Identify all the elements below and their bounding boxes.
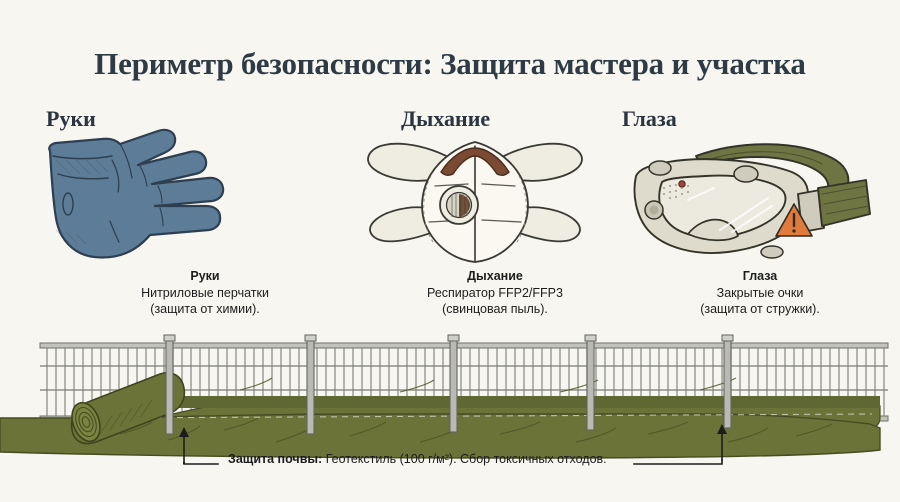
soil-note-text: Геотекстиль (100 г/м²). Сбор токсичных о…	[322, 452, 606, 466]
caption-line1-hands: Нитриловые перчатки	[141, 286, 269, 300]
caption-hands: Руки Нитриловые перчатки (защита от хими…	[55, 268, 355, 318]
caption-line1-breathing: Респиратор FFP2/FFP3	[427, 286, 563, 300]
caption-title-eyes: Глаза	[620, 268, 900, 285]
section-heading-eyes: Глаза	[622, 106, 677, 132]
caption-eyes: Глаза Закрытые очки (защита от стружки).	[620, 268, 900, 318]
safety-goggles-icon	[622, 132, 880, 267]
caption-line2-hands: (защита от химии).	[150, 302, 259, 316]
caption-breathing: Дыхание Респиратор FFP2/FFP3 (свинцовая …	[345, 268, 645, 318]
soil-note-label: Защита почвы:	[228, 452, 322, 466]
infographic-canvas: Периметр безопасности: Защита мастера и …	[0, 0, 900, 502]
soil-callout-leaders	[0, 420, 900, 480]
caption-title-hands: Руки	[55, 268, 355, 285]
caption-line2-breathing: (свинцовая пыль).	[442, 302, 548, 316]
caption-title-breathing: Дыхание	[345, 268, 645, 285]
nitrile-glove-icon	[40, 126, 325, 271]
caption-line2-eyes: (защита от стружки).	[700, 302, 820, 316]
page-title: Периметр безопасности: Защита мастера и …	[0, 46, 900, 82]
soil-protection-note: Защита почвы: Геотекстиль (100 г/м²). Сб…	[228, 452, 607, 466]
caption-line1-eyes: Закрытые очки	[717, 286, 804, 300]
respirator-mask-icon	[355, 128, 595, 270]
